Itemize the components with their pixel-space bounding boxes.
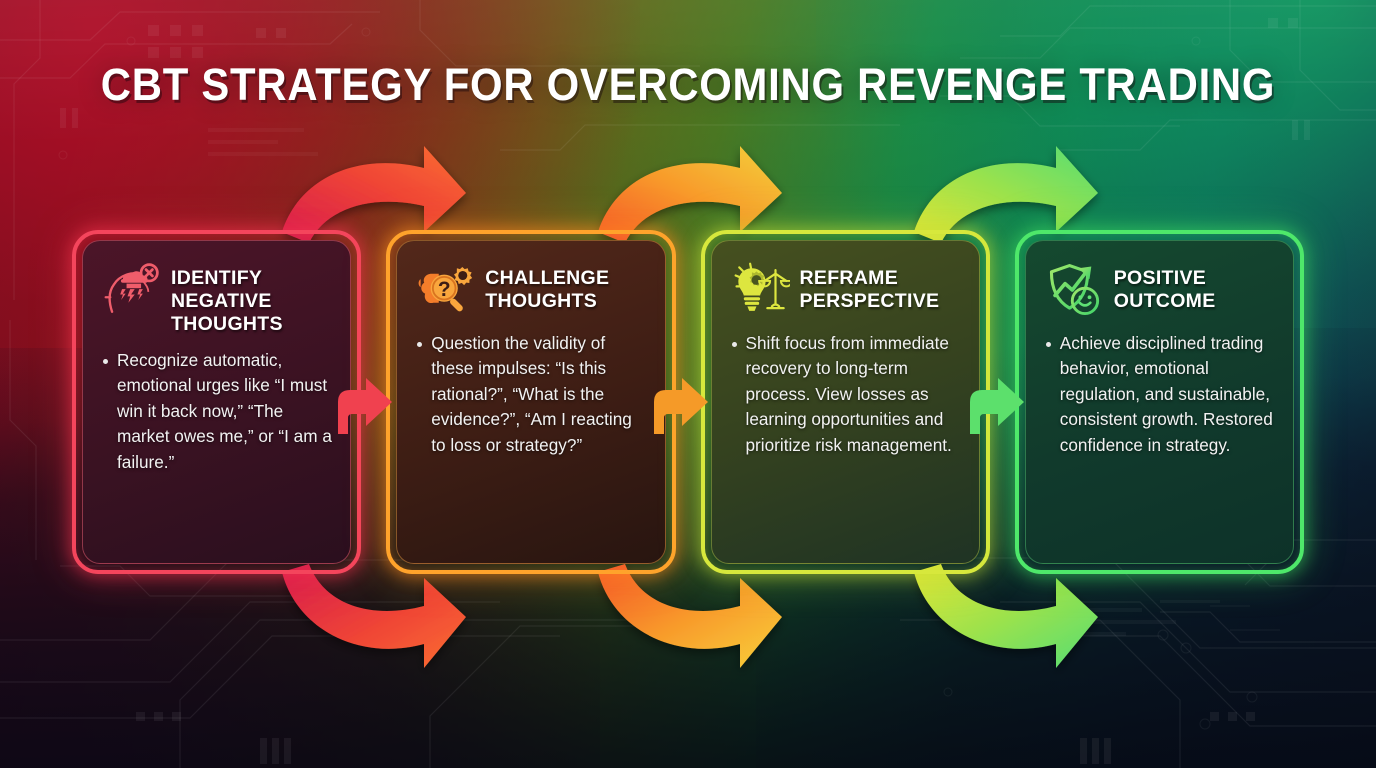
card-bullet: Achieve disciplined trading behavior, em… — [1046, 331, 1275, 458]
card-title: CHALLENGE THOUGHTS — [485, 265, 646, 313]
card-header: IDENTIFY NEGATIVE THOUGHTS — [103, 265, 332, 336]
card-content: IDENTIFY NEGATIVE THOUGHTS Recognize aut… — [82, 240, 351, 564]
card-content: ? CHALLENGE THOUGHTS Question the validi… — [396, 240, 665, 564]
card-header: POSITIVE OUTCOME — [1046, 265, 1275, 319]
card-bullet: Shift focus from immediate recovery to l… — [732, 331, 961, 458]
card-bullet-text: Recognize automatic, emotional urges lik… — [117, 348, 332, 475]
card-header: REFRAME PERSPECTIVE — [732, 265, 961, 319]
infographic-canvas: CBT STRATEGY FOR OVERCOMING REVENGE TRAD… — [0, 0, 1376, 768]
card-bullet-text: Shift focus from immediate recovery to l… — [746, 331, 961, 458]
lightbulb-gear-scale-icon — [732, 261, 790, 319]
head-storm-cloud-x-icon — [103, 261, 161, 319]
brain-magnifier-question-gear-icon: ? — [417, 261, 475, 319]
card-title: IDENTIFY NEGATIVE THOUGHTS — [171, 265, 332, 336]
steps-row: IDENTIFY NEGATIVE THOUGHTS Recognize aut… — [72, 230, 1304, 574]
bullet-dot-icon — [1046, 342, 1051, 347]
card-header: ? CHALLENGE THOUGHTS — [417, 265, 646, 319]
card-bullet-text: Question the validity of these impulses:… — [431, 331, 646, 458]
card-title: REFRAME PERSPECTIVE — [800, 265, 961, 313]
card-bullet: Question the validity of these impulses:… — [417, 331, 646, 458]
card-bullet: Recognize automatic, emotional urges lik… — [103, 348, 332, 475]
page-title: CBT STRATEGY FOR OVERCOMING REVENGE TRAD… — [48, 62, 1328, 107]
card-title: POSITIVE OUTCOME — [1114, 265, 1275, 313]
bullet-dot-icon — [417, 342, 422, 347]
card-bullet-text: Achieve disciplined trading behavior, em… — [1060, 331, 1275, 458]
card-identify-negative-thoughts[interactable]: IDENTIFY NEGATIVE THOUGHTS Recognize aut… — [72, 230, 361, 574]
svg-text:?: ? — [438, 278, 451, 301]
shield-growth-arrow-smiley-icon — [1046, 261, 1104, 319]
card-reframe-perspective[interactable]: REFRAME PERSPECTIVE Shift focus from imm… — [701, 230, 990, 574]
card-challenge-thoughts[interactable]: ? CHALLENGE THOUGHTS Question the validi… — [386, 230, 675, 574]
bullet-dot-icon — [103, 359, 108, 364]
card-content: POSITIVE OUTCOME Achieve disciplined tra… — [1025, 240, 1294, 564]
bullet-dot-icon — [732, 342, 737, 347]
card-positive-outcome[interactable]: POSITIVE OUTCOME Achieve disciplined tra… — [1015, 230, 1304, 574]
card-content: REFRAME PERSPECTIVE Shift focus from imm… — [711, 240, 980, 564]
